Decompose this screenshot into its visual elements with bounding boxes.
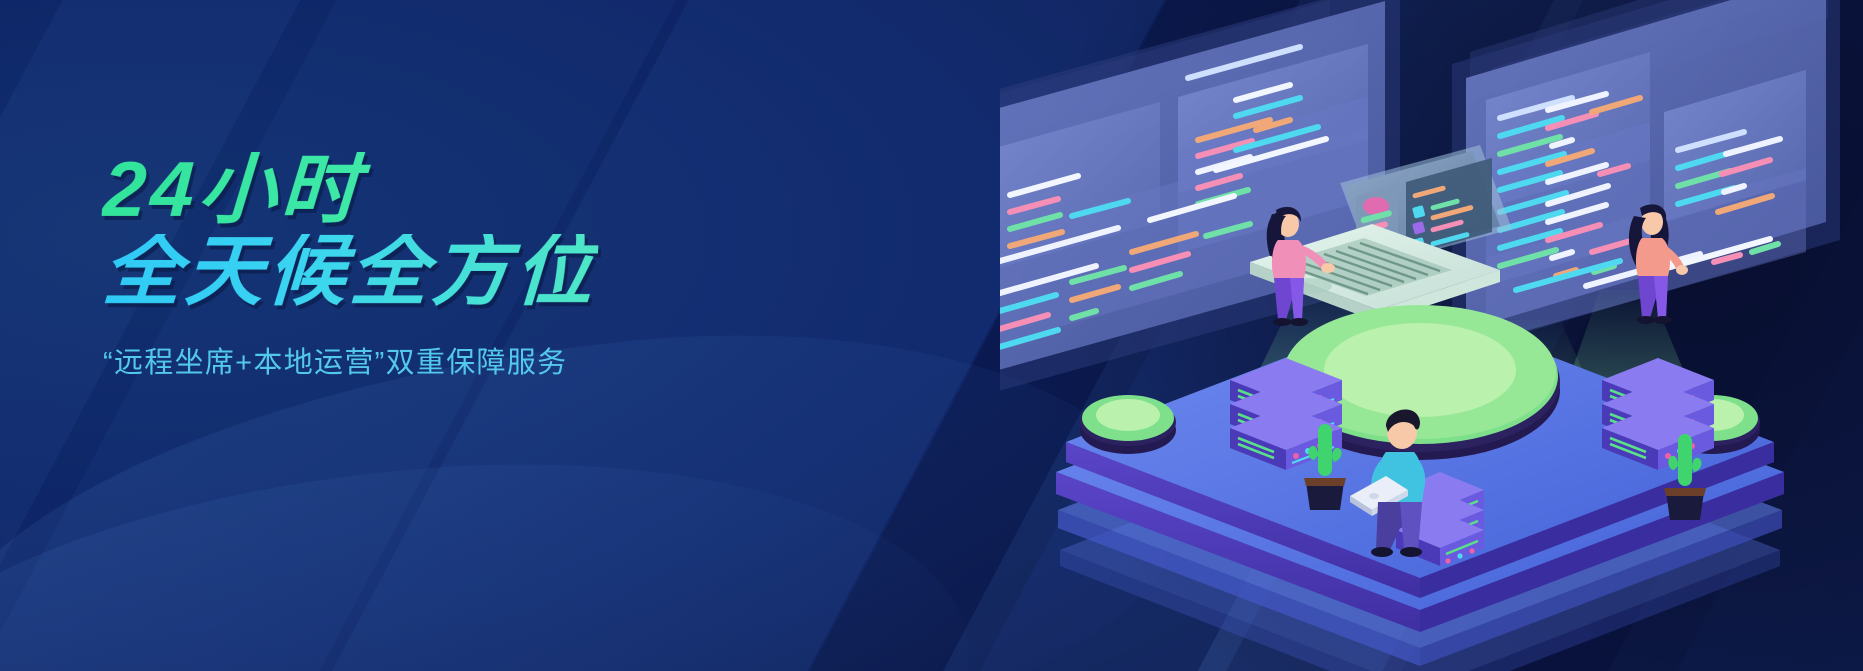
hero-banner: 24小时 全天候全方位 “远程坐席+本地运营”双重保障服务 <box>0 0 1863 671</box>
hero-subtitle: “远程坐席+本地运营”双重保障服务 <box>103 339 597 381</box>
left-glow-disc <box>1080 395 1176 454</box>
headline-line-2: 全天候全方位 <box>101 234 599 309</box>
hero-illustration <box>1000 0 1860 671</box>
hero-copy: 24小时 全天候全方位 “远程坐席+本地运营”双重保障服务 <box>103 152 597 381</box>
headline-line-1: 24小时 <box>101 152 599 227</box>
right-server-rack <box>1602 358 1714 470</box>
